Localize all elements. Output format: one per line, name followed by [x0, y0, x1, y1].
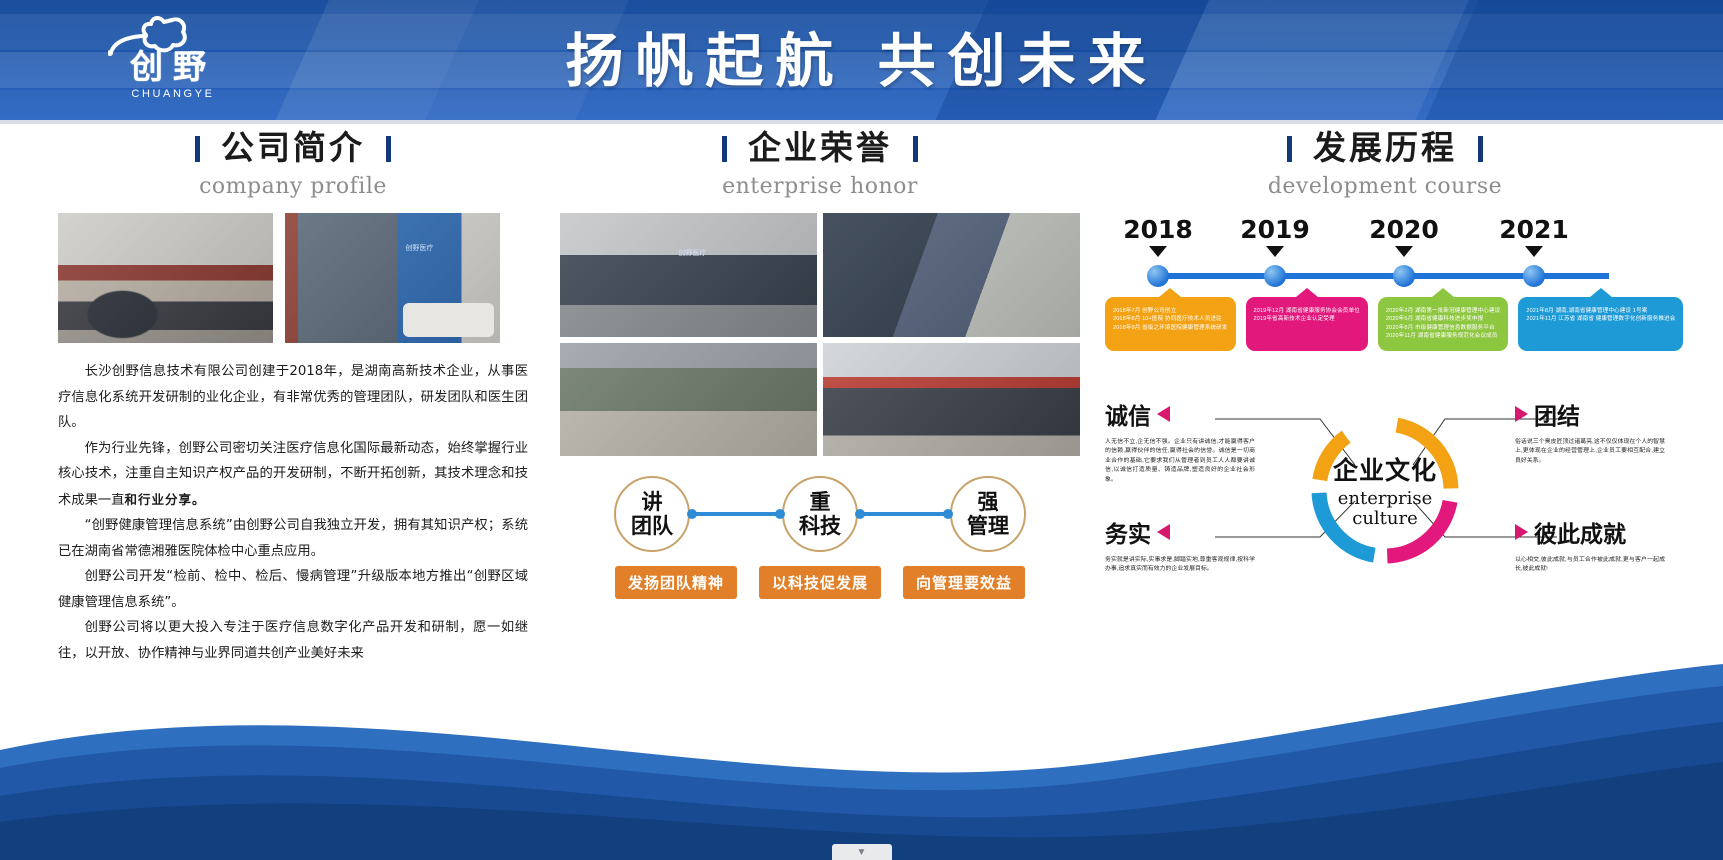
triangle-marker-icon [1395, 246, 1413, 257]
culture-value-desc: 俗话说三个臭皮匠顶过诸葛亮,这不仅仅体现在个人的智慧上,更体现在企业的经营管理上… [1515, 438, 1665, 466]
scroll-indicator[interactable]: ▼ [832, 844, 892, 860]
section-title-cn: 企业荣誉 [748, 124, 892, 172]
photo-sofa-shape [403, 303, 493, 337]
circle-line-1: 重 [810, 490, 831, 514]
section-company-profile: 公司简介 company profile 创野医疗 长沙创野信息技术有限公司创建… [58, 124, 528, 666]
culture-center-cn: 企业文化 [1333, 451, 1437, 487]
section-title-en: enterprise honor [560, 174, 1080, 199]
culture-value-title: 团结 [1515, 397, 1665, 431]
card-notch [1432, 288, 1454, 297]
honor-badge-management: 向管理要效益 [903, 566, 1025, 599]
section-heading: 公司简介 company profile [58, 124, 528, 199]
timeline-year-label: 2021 [1499, 215, 1569, 244]
honor-circle-team: 讲 团队 [614, 476, 690, 552]
poster-header: 创野 CHUANGYE 扬帆起航 共创未来 [0, 0, 1723, 124]
circle-connector [858, 512, 950, 516]
culture-center-label: 企业文化 enterprise culture [1300, 405, 1470, 575]
timeline-card-row: 2018年7月 创野公司创立 2018年8月 10+医院 协同医疗技术人员进驻 … [1105, 297, 1665, 351]
timeline-card-line: 2020年8月 市级健康管理信息数据服务平台 [1386, 324, 1501, 332]
timeline-year: 2020 [1359, 215, 1449, 257]
development-timeline: 2018 2019 2020 2021 [1105, 215, 1665, 375]
culture-value-label: 团结 [1534, 397, 1580, 431]
profile-paragraph: “创野健康管理信息系统”由创野公司自我独立开发，拥有其知识产权；系统已在湖南省常… [58, 513, 528, 564]
timeline-year-label: 2020 [1369, 215, 1439, 244]
timeline-year: 2019 [1230, 215, 1320, 257]
timeline-card-line: 2021年11月 江苏省 湖南省 健康管理数字化创新服务推进会 [1526, 315, 1675, 323]
honor-badge-tech: 以科技促发展 [759, 566, 881, 599]
honor-circle-row: 讲 团队 重 科技 强 管理 [560, 476, 1080, 552]
timeline-card-line: 2020年2月 湖南第一批新冠健康管理中心建设 [1386, 307, 1501, 315]
culture-value-title: 诚信 [1105, 397, 1255, 431]
culture-value-unity: 团结 俗话说三个臭皮匠顶过诸葛亮,这不仅仅体现在个人的智慧上,更体现在企业的经营… [1515, 397, 1665, 466]
triangle-marker-icon [1266, 246, 1284, 257]
timeline-node-icon [1523, 265, 1545, 287]
circle-line-2: 团队 [631, 514, 673, 538]
circle-connector [690, 512, 782, 516]
timeline-card-line: 2020年5月 湖南省健康科技进步奖申报 [1386, 315, 1501, 323]
poster-title: 扬帆起航 共创未来 [0, 27, 1723, 95]
culture-value-desc: 务实就是讲实际,实事求是,脚踏实地,尊重客观规律,按科学办事,追求真实而有效力的… [1105, 556, 1255, 575]
timeline-node-icon [1147, 265, 1169, 287]
circle-line-1: 强 [978, 490, 999, 514]
culture-value-pragmatism: 务实 务实就是讲实际,实事求是,脚踏实地,尊重客观规律,按科学办事,追求真实而有… [1105, 515, 1255, 575]
timeline-card-2019: 2019年12月 湖南省健康服务协会会员单位 2019年省高新技术企业认定受理 [1246, 297, 1368, 351]
circle-line-1: 讲 [642, 490, 663, 514]
presentation-meeting-photo [823, 213, 1080, 337]
timeline-year-row: 2018 2019 2020 2021 [1105, 215, 1665, 261]
culture-value-label: 诚信 [1105, 397, 1151, 431]
culture-value-mutual-achievement: 彼此成就 以心相交,彼此成就,与员工合作被此成就,更与客户一起成长,彼此成就! [1515, 515, 1665, 575]
culture-value-desc: 人无信不立,企无信不强。企业只有讲诚信,才能赢得客户的信赖,赢得伙伴的信任,赢得… [1105, 438, 1255, 485]
culture-value-title: 彼此成就 [1515, 515, 1665, 549]
circle-line-2: 管理 [967, 514, 1009, 538]
timeline-card-2020: 2020年2月 湖南第一批新冠健康管理中心建设 2020年5月 湖南省健康科技进… [1378, 297, 1509, 351]
profile-photo-grid: 创野医疗 [58, 213, 528, 343]
culture-wall-poster: 创野 CHUANGYE 扬帆起航 共创未来 公司简介 company profi… [0, 0, 1723, 860]
arrow-right-icon [1515, 406, 1528, 422]
poster-footer-waves: ▼ [0, 664, 1723, 860]
timeline-card-2018: 2018年7月 创野公司创立 2018年8月 10+医院 协同医疗技术人员进驻 … [1105, 297, 1236, 351]
section-title-en: development course [1105, 174, 1665, 199]
triangle-marker-icon [1149, 246, 1167, 257]
group-award-photo [823, 343, 1080, 456]
profile-paragraph: 创野公司开发“检前、检中、检后、慢病管理”升级版本地方推出“创野区域健康管理信息… [58, 564, 528, 615]
section-heading: 发展历程 development course [1105, 124, 1665, 199]
section-title-cn: 发展历程 [1313, 124, 1457, 172]
timeline-card-2021: 2021年8月 湖南,湖南省健康管理中心建设 1号案 2021年11月 江苏省 … [1518, 297, 1683, 351]
timeline-card-line: 2018年9月 省级之环境医院健康管理系统研发 [1113, 324, 1228, 332]
honor-badge-team: 发扬团队精神 [615, 566, 737, 599]
profile-paragraph: 创野公司将以更大投入专注于医疗信息数字化产品开发和研制，愿一如继往，以开放、协作… [58, 615, 528, 666]
profile-text-block: 长沙创野信息技术有限公司创建于2018年，是湖南高新技术企业，从事医疗信息化系统… [58, 359, 528, 666]
honor-circle-management: 强 管理 [950, 476, 1026, 552]
culture-value-desc: 以心相交,彼此成就,与员工合作被此成就,更与客户一起成长,彼此成就! [1515, 556, 1665, 575]
open-office-photo [560, 343, 817, 456]
timeline-card-line: 2019年12月 湖南省健康服务协会会员单位 [1254, 307, 1360, 315]
culture-center-en2: culture [1352, 509, 1418, 529]
profile-handwritten-note: 和行业分享。 [124, 492, 205, 507]
triangle-marker-icon [1525, 246, 1543, 257]
circle-line-2: 科技 [799, 514, 841, 538]
wave-decoration-icon [0, 664, 1723, 860]
photo-sign-text: 创野医疗 [678, 248, 706, 258]
office-reception-photo: 创野医疗 [285, 213, 500, 343]
card-notch [1590, 288, 1612, 297]
team-photo-lobby [58, 213, 273, 343]
card-notch [1296, 288, 1318, 297]
timeline-year-label: 2018 [1123, 215, 1193, 244]
enterprise-culture-diagram: 企业文化 enterprise culture 诚信 人无信不立,企无信不强。企… [1105, 397, 1665, 602]
section-title-en: company profile [58, 174, 528, 199]
arrow-left-icon [1157, 406, 1170, 422]
culture-value-label: 务实 [1105, 515, 1151, 549]
honor-photo-grid: 创野医疗 [560, 213, 1080, 456]
arrow-right-icon [1515, 524, 1528, 540]
photo-sign-text: 创野医疗 [405, 244, 433, 253]
arrow-left-icon [1157, 524, 1170, 540]
profile-paragraph: 作为行业先锋，创野公司密切关注医疗信息化国际最新动态，始终掌握行业核心技术，注重… [58, 436, 528, 514]
timeline-node-icon [1393, 265, 1415, 287]
poster-body: 公司简介 company profile 创野医疗 长沙创野信息技术有限公司创建… [0, 124, 1723, 680]
honor-badge-row: 发扬团队精神 以科技促发展 向管理要效益 [560, 566, 1080, 599]
culture-value-title: 务实 [1105, 515, 1255, 549]
section-title-cn: 公司简介 [221, 124, 365, 172]
office-glass-door-photo: 创野医疗 [560, 213, 817, 337]
section-enterprise-honor: 企业荣誉 enterprise honor 创野医疗 讲 团队 重 [560, 124, 1080, 599]
profile-paragraph: 长沙创野信息技术有限公司创建于2018年，是湖南高新技术企业，从事医疗信息化系统… [58, 359, 528, 436]
timeline-card-line: 2020年11月 湖南省健康服务规范化会议成员 [1386, 332, 1501, 340]
timeline-card-line: 2018年7月 创野公司创立 [1113, 307, 1228, 315]
culture-value-label: 彼此成就 [1534, 515, 1626, 549]
section-heading: 企业荣誉 enterprise honor [560, 124, 1080, 199]
section-development-course: 发展历程 development course 2018 2019 2020 [1105, 124, 1665, 602]
culture-center-en1: enterprise [1338, 489, 1433, 509]
timeline-year: 2018 [1113, 215, 1203, 257]
card-notch [1159, 288, 1181, 297]
honor-circle-tech: 重 科技 [782, 476, 858, 552]
timeline-card-line: 2019年省高新技术企业认定受理 [1254, 315, 1360, 323]
culture-value-integrity: 诚信 人无信不立,企无信不强。企业只有讲诚信,才能赢得客户的信赖,赢得伙伴的信任… [1105, 397, 1255, 485]
timeline-year: 2021 [1489, 215, 1579, 257]
timeline-card-line: 2018年8月 10+医院 协同医疗技术人员进驻 [1113, 315, 1228, 323]
timeline-year-label: 2019 [1240, 215, 1310, 244]
culture-donut-ring: 企业文化 enterprise culture [1300, 405, 1470, 575]
timeline-node-icon [1264, 265, 1286, 287]
timeline-card-line: 2021年8月 湖南,湖南省健康管理中心建设 1号案 [1526, 307, 1675, 315]
